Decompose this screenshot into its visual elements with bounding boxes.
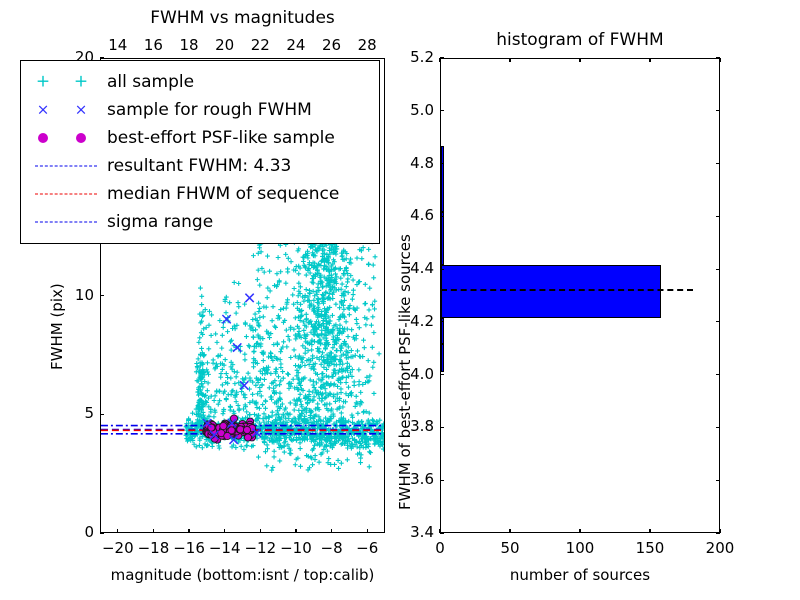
scatter-yticklabel: 0	[54, 523, 94, 541]
legend-label: all sample	[107, 72, 194, 92]
histogram-xtick	[509, 529, 510, 533]
histogram-ytick	[440, 532, 444, 533]
dashed-line-icon	[35, 194, 97, 195]
histogram-bars-area	[441, 59, 719, 532]
histogram-xtick	[579, 529, 580, 533]
histogram-right-ytick	[716, 427, 720, 428]
scatter-plot-title: FWHM vs magnitudes	[100, 8, 385, 28]
scatter-ytick	[100, 295, 104, 296]
histogram-bar	[441, 344, 444, 372]
legend-label: best-effort PSF-like sample	[107, 128, 335, 148]
histogram-ytick	[440, 110, 444, 111]
legend-marker-circle-icon	[29, 126, 107, 150]
histogram-right-ytick	[716, 321, 720, 322]
histogram-yticklabel: 4.6	[392, 206, 434, 224]
histogram-ytick	[440, 480, 444, 481]
scatter-xtick	[153, 529, 154, 533]
scatter-xticklabel: −6	[345, 539, 389, 557]
scatter-xtick	[188, 529, 189, 533]
legend-label: median FHWM of sequence	[107, 184, 339, 204]
scatter-top-xticklabel: 28	[345, 36, 389, 54]
histogram-ytick	[440, 216, 444, 217]
histogram-xticklabel: 200	[695, 539, 745, 557]
histogram-xticklabel: 0	[415, 539, 465, 557]
histogram-xticklabel: 100	[555, 539, 605, 557]
histogram-xtick	[649, 529, 650, 533]
legend-marker-cross-icon: ××	[29, 98, 107, 122]
cross-icon: ×	[75, 103, 88, 118]
histogram-yaxis-label: FWHM of best-effort PSF-like sources	[396, 234, 414, 510]
scatter-ytick	[100, 57, 104, 58]
histogram-bar	[441, 146, 444, 212]
histogram-ytick	[440, 57, 444, 58]
scatter-yticklabel: 5	[54, 404, 94, 422]
legend-marker-dashdot-line-icon	[29, 210, 107, 234]
scatter-xtick	[117, 529, 118, 533]
histogram-median-line	[441, 289, 693, 291]
histogram-bar	[441, 265, 661, 318]
histogram-ytick	[440, 427, 444, 428]
histogram-top-xtick	[719, 58, 720, 62]
scatter-xtick	[260, 529, 261, 533]
histogram-title: histogram of FWHM	[440, 30, 720, 50]
scatter-xtick	[295, 529, 296, 533]
histogram-right-ytick	[716, 532, 720, 533]
histogram-yticklabel: 3.4	[392, 523, 434, 541]
legend-label: resultant FWHM: 4.33	[107, 156, 291, 176]
histogram-right-ytick	[716, 480, 720, 481]
plot-legend: ++all sample××sample for rough FWHMbest-…	[20, 60, 380, 244]
histogram-right-ytick	[716, 110, 720, 111]
histogram-right-ytick	[716, 269, 720, 270]
legend-item-0: ++all sample	[29, 68, 369, 96]
histogram-right-ytick	[716, 216, 720, 217]
scatter-ytick	[100, 414, 104, 415]
circle-icon	[76, 133, 86, 143]
histogram-ytick	[440, 269, 444, 270]
matplotlib-figure: FWHM vs magnitudes 1416182022242628 −20−…	[0, 0, 800, 600]
legend-item-4: median FHWM of sequence	[29, 180, 369, 208]
histogram-right-ytick	[716, 374, 720, 375]
histogram-xticklabel: 150	[625, 539, 675, 557]
histogram-axes	[440, 58, 720, 533]
histogram-yticklabel: 5.2	[392, 48, 434, 66]
cross-icon: ×	[37, 103, 50, 118]
scatter-yaxis-label: FWHM (pix)	[48, 283, 66, 370]
dashed-line-icon	[35, 166, 97, 167]
dashdot-line-icon	[35, 222, 97, 223]
histogram-ytick	[440, 374, 444, 375]
scatter-xtick	[367, 529, 368, 533]
scatter-xaxis-label: magnitude (bottom:isnt / top:calib)	[80, 566, 405, 584]
legend-item-5: sigma range	[29, 208, 369, 236]
scatter-xtick	[224, 529, 225, 533]
histogram-right-ytick	[716, 57, 720, 58]
histogram-yticklabel: 4.8	[392, 154, 434, 172]
legend-marker-dashed-line-icon	[29, 154, 107, 178]
legend-marker-plus-icon: ++	[29, 70, 107, 94]
histogram-top-xtick	[649, 58, 650, 62]
plus-icon: +	[36, 74, 50, 91]
legend-label: sigma range	[107, 212, 213, 232]
legend-item-2: best-effort PSF-like sample	[29, 124, 369, 152]
legend-marker-dashed-line-icon	[29, 182, 107, 206]
histogram-ytick	[440, 163, 444, 164]
legend-item-1: ××sample for rough FWHM	[29, 96, 369, 124]
histogram-top-xtick	[439, 58, 440, 62]
scatter-ytick	[100, 532, 104, 533]
plus-icon: +	[74, 74, 88, 91]
legend-label: sample for rough FWHM	[107, 100, 312, 120]
histogram-yticklabel: 5.0	[392, 101, 434, 119]
histogram-xaxis-label: number of sources	[440, 566, 720, 584]
legend-item-3: resultant FWHM: 4.33	[29, 152, 369, 180]
circle-icon	[38, 133, 48, 143]
histogram-right-ytick	[716, 163, 720, 164]
histogram-top-xtick	[509, 58, 510, 62]
histogram-top-xtick	[579, 58, 580, 62]
histogram-ytick	[440, 321, 444, 322]
histogram-bar	[441, 212, 444, 265]
scatter-xtick	[331, 529, 332, 533]
histogram-xticklabel: 50	[485, 539, 535, 557]
